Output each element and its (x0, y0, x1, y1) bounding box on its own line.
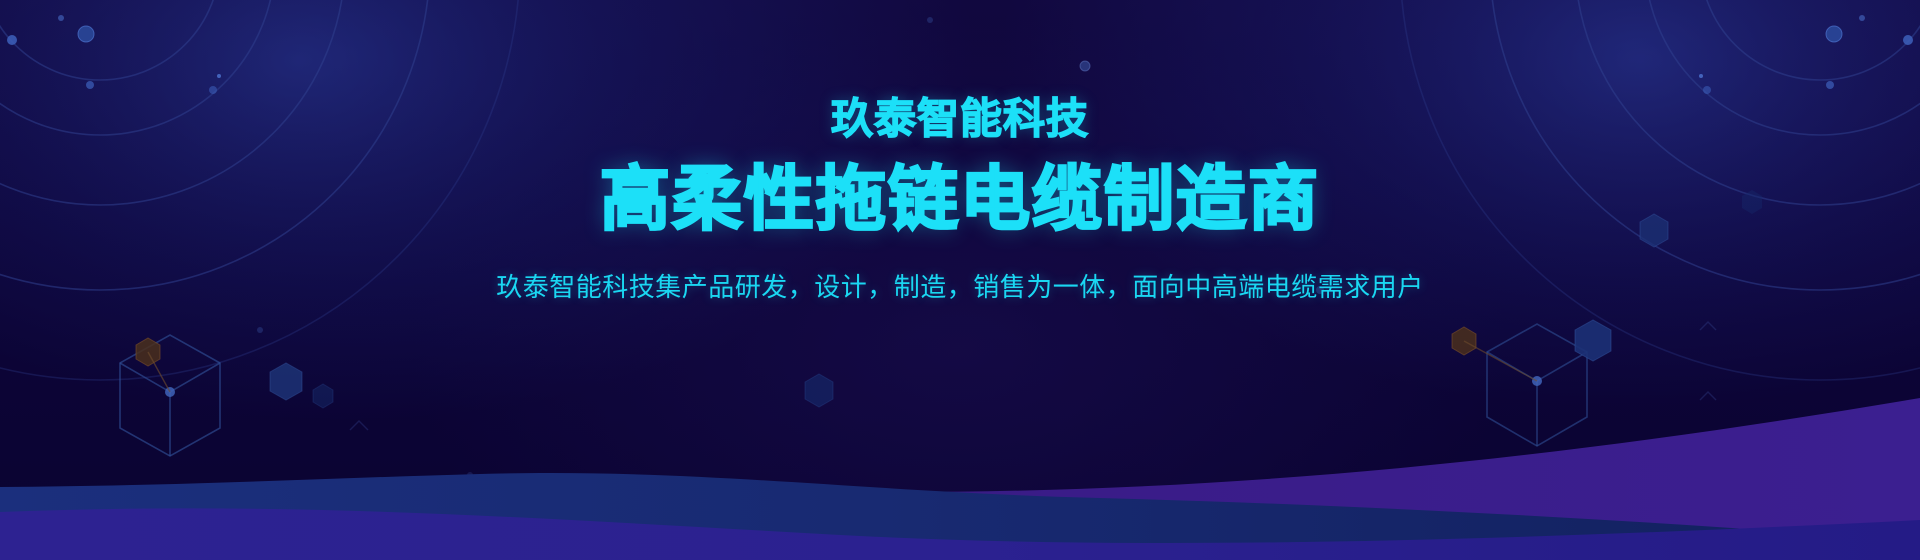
page-title: 高柔性拖链电缆制造商 (600, 164, 1320, 234)
hero-content: 玖泰智能科技 高柔性拖链电缆制造商 玖泰智能科技集产品研发，设计，制造，销售为一… (0, 0, 1920, 560)
hero-banner: 玖泰智能科技 高柔性拖链电缆制造商 玖泰智能科技集产品研发，设计，制造，销售为一… (0, 0, 1920, 560)
company-name: 玖泰智能科技 (831, 98, 1089, 140)
hero-subtitle: 玖泰智能科技集产品研发，设计，制造，销售为一体，面向中高端电缆需求用户 (496, 274, 1424, 300)
